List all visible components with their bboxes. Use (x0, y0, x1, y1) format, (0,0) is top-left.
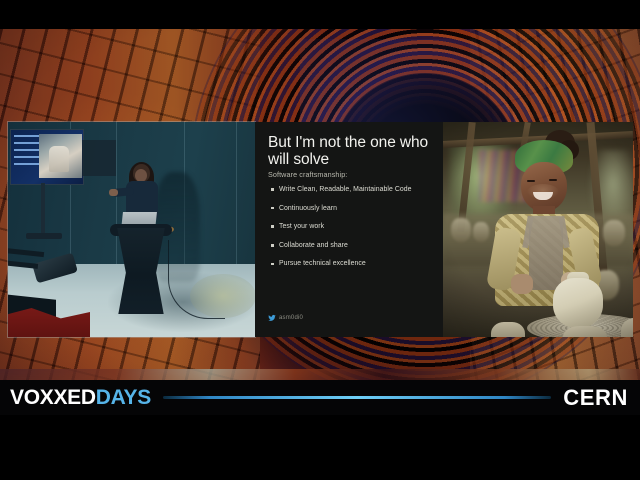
potter-photo (443, 122, 633, 337)
photo-vignette (443, 122, 633, 337)
stage-monitor (10, 129, 84, 185)
monitor-inset-photo (39, 134, 82, 178)
list-item: Pursue technical excellence (270, 259, 438, 269)
monitor-text-lines (14, 135, 40, 169)
voxxed-days-logo[interactable]: VOXXED DAYS (10, 387, 151, 408)
speaker-hand (109, 189, 118, 196)
logo-days-text: DAYS (96, 387, 151, 408)
twitter-handle-text: asm0di0 (279, 315, 303, 321)
letterbox-top (0, 0, 640, 29)
presentation-slide[interactable]: But I'm not the one who will solve Softw… (255, 122, 443, 337)
slide-social-handle: asm0di0 (268, 314, 303, 322)
banner-divider-rule (163, 396, 551, 399)
monitor-stand (41, 183, 45, 235)
letterbox-bottom (0, 415, 640, 480)
list-item: Continuously learn (270, 204, 438, 214)
list-item: Write Clean, Readable, Maintainable Code (270, 185, 438, 195)
slide-subtitle: Software craftsmanship: (268, 170, 347, 179)
slide-title: But I'm not the one who will solve (268, 134, 434, 168)
monitor-base (26, 233, 62, 239)
event-banner: VOXXED DAYS CERN (0, 380, 640, 415)
floor-rug (190, 274, 255, 318)
slide-bullet-list: Write Clean, Readable, Maintainable Code… (270, 185, 438, 278)
screenshot-stage: But I'm not the one who will solve Softw… (0, 0, 640, 480)
wall-seam (236, 122, 237, 270)
twitter-bird-icon (268, 314, 276, 322)
speaker-video-panel[interactable] (8, 122, 255, 337)
wall-panel (82, 140, 116, 176)
list-item: Test your work (270, 222, 438, 232)
list-item: Collaborate and share (270, 241, 438, 251)
venue-name: CERN (563, 385, 628, 411)
